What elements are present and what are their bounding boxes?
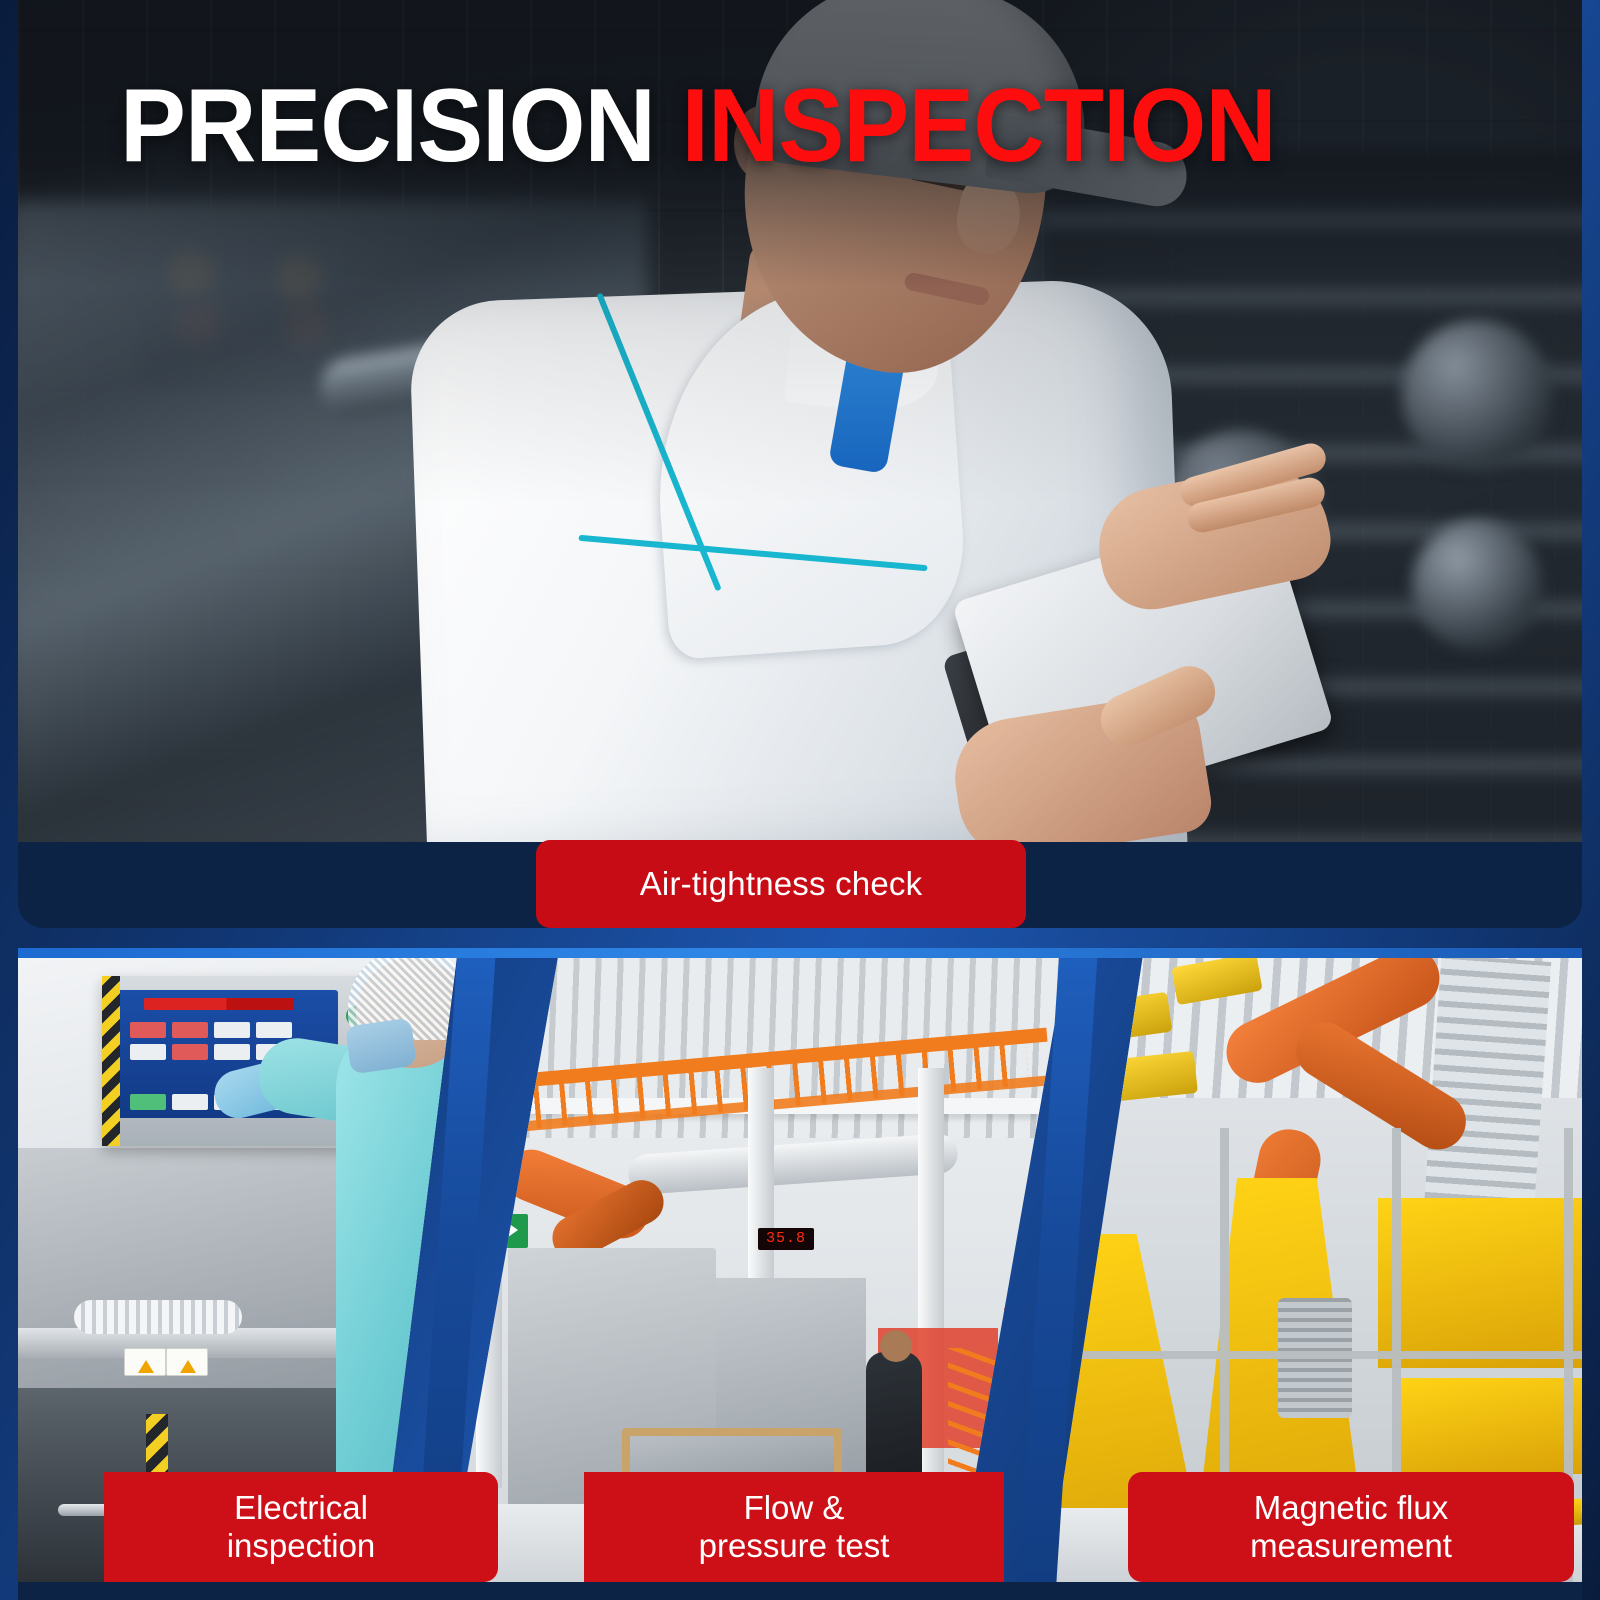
- bottom-navy-strip: [18, 1582, 1582, 1600]
- caption-line-2: measurement: [1250, 1527, 1452, 1565]
- caption-line-1: Electrical: [234, 1489, 368, 1527]
- caption-badge-flow-pressure: Flow & pressure test: [584, 1472, 1004, 1582]
- caption-badge-electrical: Electrical inspection: [104, 1472, 498, 1582]
- caption-line-2: pressure test: [699, 1527, 890, 1565]
- hmi-key: [214, 1044, 250, 1060]
- face-mask: [345, 1018, 417, 1075]
- poster-root: PRECISION INSPECTION Air-tightness check: [0, 0, 1600, 1600]
- caption-line-1: Flow &: [744, 1489, 845, 1527]
- hero-caption-badge: Air-tightness check: [536, 840, 1026, 928]
- hmi-key: [130, 1094, 166, 1110]
- hmi-key: [130, 1022, 166, 1038]
- hazard-stripe: [102, 976, 120, 1146]
- hmi-key: [172, 1044, 208, 1060]
- warning-label-icon: [124, 1348, 166, 1376]
- hmi-title-bar: [144, 998, 294, 1010]
- hmi-key: [214, 1022, 250, 1038]
- machine-roller: [74, 1300, 242, 1334]
- gallery-top-edge: [18, 948, 1582, 958]
- caption-line-2: inspection: [227, 1527, 376, 1565]
- title-word-precision: PRECISION: [120, 68, 655, 184]
- exit-sign-icon: [476, 1214, 528, 1248]
- title-word-inspection: INSPECTION: [681, 68, 1275, 184]
- hmi-key: [172, 1094, 208, 1110]
- hmi-key: [256, 1022, 292, 1038]
- led-readout: 35.8: [758, 1228, 814, 1250]
- caption-line-1: Magnetic flux: [1254, 1489, 1448, 1527]
- caption-badge-magnetic-flux: Magnetic flux measurement: [1128, 1472, 1574, 1582]
- worker-head: [880, 1330, 912, 1362]
- hero-caption-label: Air-tightness check: [640, 865, 923, 903]
- warning-label-icon: [166, 1348, 208, 1376]
- hmi-key: [130, 1044, 166, 1060]
- hmi-key: [172, 1022, 208, 1038]
- page-title: PRECISION INSPECTION: [120, 74, 1276, 178]
